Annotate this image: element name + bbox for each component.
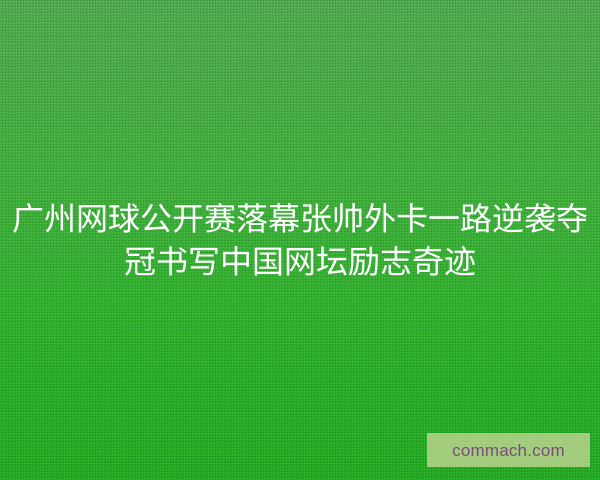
headline-text: 广州网球公开赛落幕张帅外卡一路逆袭夺 冠书写中国网坛励志奇迹 xyxy=(0,198,600,284)
headline-line-2: 冠书写中国网坛励志奇迹 xyxy=(0,241,600,284)
headline-line-1: 广州网球公开赛落幕张帅外卡一路逆袭夺 xyxy=(0,198,600,241)
watermark-label: commach.com xyxy=(452,442,565,459)
article-thumbnail-card: 广州网球公开赛落幕张帅外卡一路逆袭夺 冠书写中国网坛励志奇迹 commach.c… xyxy=(0,0,600,480)
watermark-badge: commach.com xyxy=(427,433,590,467)
